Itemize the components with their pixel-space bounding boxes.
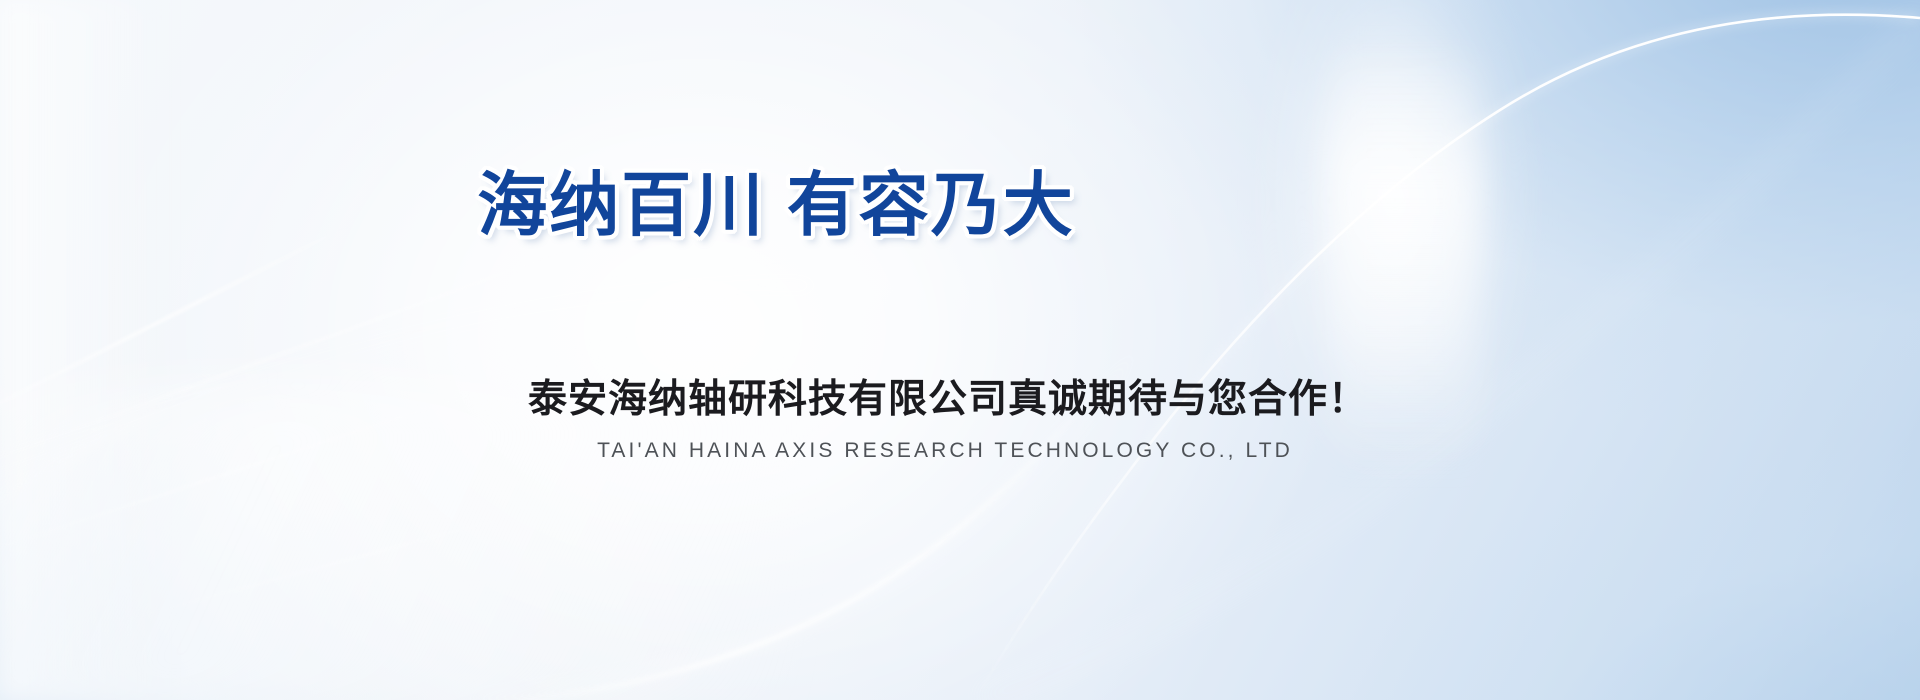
- banner-subtitle-english: TAI'AN HAINA AXIS RESEARCH TECHNOLOGY CO…: [0, 438, 1890, 464]
- banner-headline: 海纳百川 有容乃大: [0, 170, 1552, 240]
- banner-text-block: 海纳百川 有容乃大 泰安海纳轴研科技有限公司真诚期待与您合作！ TAI'AN H…: [0, 0, 1920, 700]
- hero-banner: 海纳百川 有容乃大 泰安海纳轴研科技有限公司真诚期待与您合作！ TAI'AN H…: [0, 0, 1920, 700]
- banner-subtitle-chinese: 泰安海纳轴研科技有限公司真诚期待与您合作！: [0, 378, 1896, 423]
